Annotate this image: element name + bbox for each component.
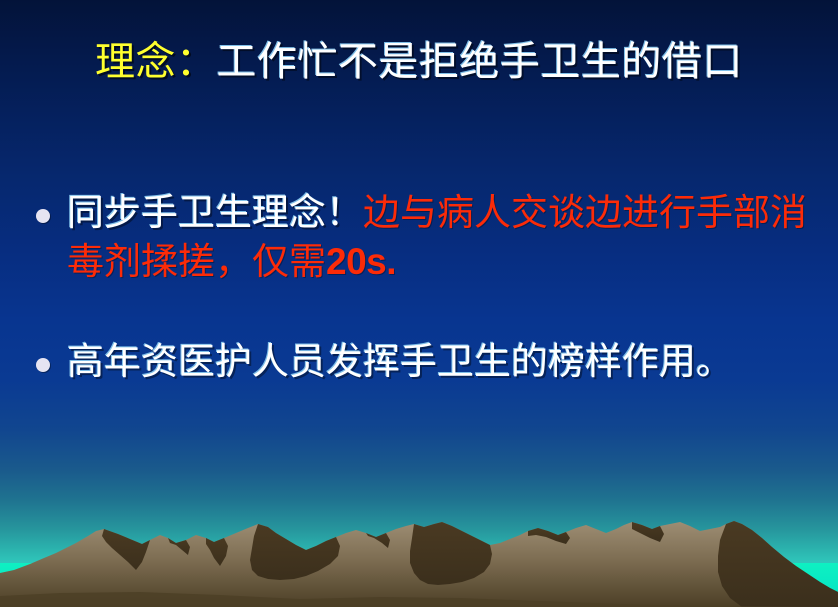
bullet-1-segment-duration: 20s. (326, 241, 396, 282)
bullet-2-segment-white: 高年资医护人员发挥手卫生的榜样作用。 (67, 342, 733, 383)
mountain-shadow-9 (718, 521, 838, 607)
presentation-slide: 理念：工作忙不是拒绝手卫生的借口 同步手卫生理念！边与病人交谈边进行手部消毒剂揉… (0, 0, 838, 607)
mountain-range-silhouette (0, 500, 838, 607)
list-item-text: 同步手卫生理念！边与病人交谈边进行手部消毒剂揉搓，仅需20s. (67, 190, 816, 287)
slide-title-highlight: 理念： (95, 39, 217, 84)
bullet-1-segment-white: 同步手卫生理念！ (67, 193, 363, 234)
slide-title: 理念：工作忙不是拒绝手卫生的借口 (0, 38, 838, 85)
list-item: 同步手卫生理念！边与病人交谈边进行手部消毒剂揉搓，仅需20s. (36, 190, 816, 287)
bullet-dot-icon (36, 209, 50, 223)
slide-body-list: 同步手卫生理念！边与病人交谈边进行手部消毒剂揉搓，仅需20s. 高年资医护人员发… (36, 190, 816, 439)
slide-title-rest: 工作忙不是拒绝手卫生的借口 (217, 39, 744, 84)
list-item-text: 高年资医护人员发挥手卫生的榜样作用。 (67, 339, 816, 387)
bullet-dot-icon (36, 358, 50, 372)
list-item: 高年资医护人员发挥手卫生的榜样作用。 (36, 339, 816, 387)
